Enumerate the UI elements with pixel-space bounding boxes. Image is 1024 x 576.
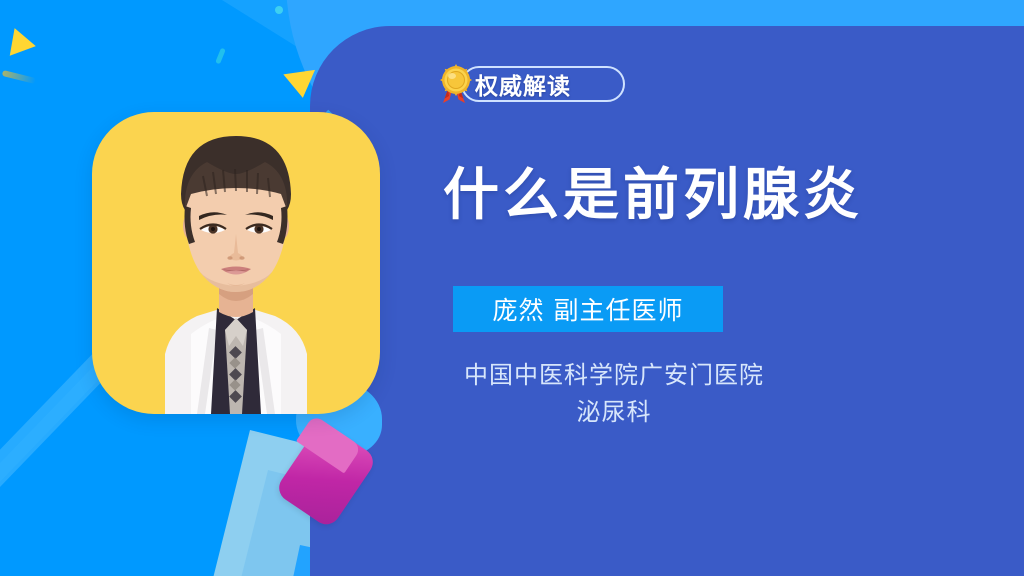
affiliation-department: 泌尿科	[443, 394, 785, 431]
decorative-sliver	[2, 70, 36, 84]
speaker-name-tag: 庞然 副主任医师	[453, 286, 723, 332]
triangle-down-icon	[283, 70, 318, 100]
page-title: 什么是前列腺炎	[443, 150, 863, 231]
avatar	[131, 122, 341, 414]
decorative-cyan-dot	[275, 6, 283, 14]
gold-medal-rosette-icon	[435, 63, 477, 105]
affiliation-block: 中国中医科学院广安门医院 泌尿科	[443, 357, 785, 431]
video-title-slide: 权威解读 什么是前列腺炎 庞然 副主任医师 中国中医科学院广安门医院 泌尿科	[0, 0, 1024, 576]
speaker-portrait-card	[92, 112, 380, 414]
triangle-right-icon	[10, 28, 38, 60]
speaker-name-label: 庞然 副主任医师	[493, 291, 684, 327]
decorative-teal-dash	[215, 48, 226, 65]
authority-badge: 权威解读	[435, 64, 571, 104]
badge-label: 权威解读	[475, 67, 571, 101]
affiliation-hospital: 中国中医科学院广安门医院	[443, 357, 785, 394]
